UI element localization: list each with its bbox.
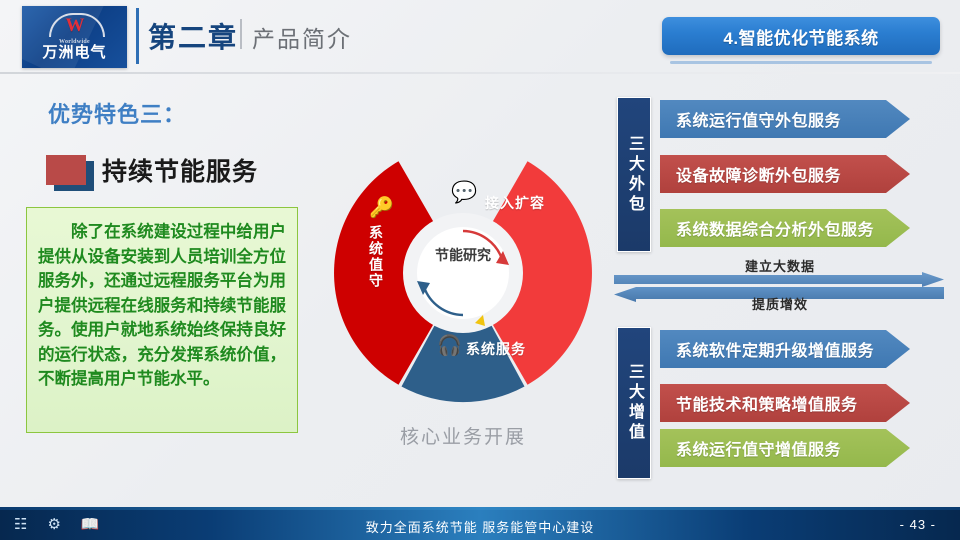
middle-arrow-top-label: 建立大数据 xyxy=(610,256,950,275)
donut-label-service: 系统服务 xyxy=(466,339,526,359)
group-tab-value-added: 三大增值 xyxy=(617,327,651,479)
description-text: 除了在系统建设过程中给用户提供从设备安装到人员培训全方位服务外，还通过远程服务平… xyxy=(38,220,286,392)
core-business-donut-chart: 💬 🔑 🎧 接入扩容 系统服务 系统值守 节能研究 xyxy=(333,143,593,403)
chapter-title: 第二章 xyxy=(148,16,238,56)
value-added-item-3[interactable]: 系统运行值守增值服务 xyxy=(660,429,910,467)
headset-icon: 🎧 xyxy=(437,333,462,358)
outsourcing-item-3-label: 系统数据综合分析外包服务 xyxy=(676,216,874,240)
key-icon: 🔑 xyxy=(369,195,394,220)
group-tab-outsourcing-label: 三大外包 xyxy=(622,135,646,215)
section-banner-body: 4.智能优化节能系统 xyxy=(662,17,940,55)
outsourcing-item-2[interactable]: 设备故障诊断外包服务 xyxy=(660,155,910,193)
group-tab-value-added-label: 三大增值 xyxy=(622,363,646,443)
group-tab-outsourcing: 三大外包 xyxy=(617,97,651,252)
value-added-item-1-label: 系统软件定期升级增值服务 xyxy=(676,337,874,361)
description-box: 除了在系统建设过程中给用户提供从设备安装到人员培训全方位服务外，还通过远程服务平… xyxy=(26,207,298,433)
bullet-square-front xyxy=(46,155,86,185)
chapter-subtitle: 产品简介 xyxy=(252,20,352,54)
logo-letter: W xyxy=(47,15,103,37)
value-added-item-3-label: 系统运行值守增值服务 xyxy=(676,436,841,460)
logo-emblem-icon: W xyxy=(22,11,127,41)
chapter-separator xyxy=(240,19,242,49)
logo-company-name: 万洲电气 xyxy=(22,41,127,62)
company-logo: W Worldwide 万洲电气 xyxy=(22,6,127,68)
slide-canvas: W Worldwide 万洲电气 第二章 产品简介 4.智能优化节能系统 优势特… xyxy=(0,0,960,540)
feature-heading: 持续节能服务 xyxy=(102,152,258,188)
donut-label-access: 接入扩容 xyxy=(485,193,545,213)
section-banner-underline xyxy=(670,61,932,64)
footer-page-number: - 43 - xyxy=(900,517,936,532)
section-banner: 4.智能优化节能系统 xyxy=(662,17,940,55)
chart-caption: 核心业务开展 xyxy=(333,422,593,449)
feature-title: 优势特色三： xyxy=(48,97,186,129)
donut-inner-disc xyxy=(417,227,509,319)
header-rule xyxy=(0,72,960,74)
donut-center-label: 节能研究 xyxy=(431,247,495,264)
header-accent-bar xyxy=(136,8,139,64)
outsourcing-item-2-label: 设备故障诊断外包服务 xyxy=(676,162,841,186)
outsourcing-item-1[interactable]: 系统运行值守外包服务 xyxy=(660,100,910,138)
middle-arrow-bottom-label: 提质增效 xyxy=(610,294,950,313)
outsourcing-item-3[interactable]: 系统数据综合分析外包服务 xyxy=(660,209,910,247)
outsourcing-item-1-label: 系统运行值守外包服务 xyxy=(676,107,841,131)
footer-slogan: 致力全面系统节能 服务能管中心建设 xyxy=(0,517,960,536)
bullet-square-icon xyxy=(46,155,88,187)
chat-bubble-icon: 💬 xyxy=(451,181,477,205)
value-added-item-1[interactable]: 系统软件定期升级增值服务 xyxy=(660,330,910,368)
donut-label-duty: 系统值守 xyxy=(366,225,386,289)
value-added-item-2[interactable]: 节能技术和策略增值服务 xyxy=(660,384,910,422)
footer-bar: ☷ ⚙ 📖 致力全面系统节能 服务能管中心建设 - 43 - xyxy=(0,510,960,540)
value-added-item-2-label: 节能技术和策略增值服务 xyxy=(676,391,858,415)
section-banner-label: 4.智能优化节能系统 xyxy=(723,24,878,49)
